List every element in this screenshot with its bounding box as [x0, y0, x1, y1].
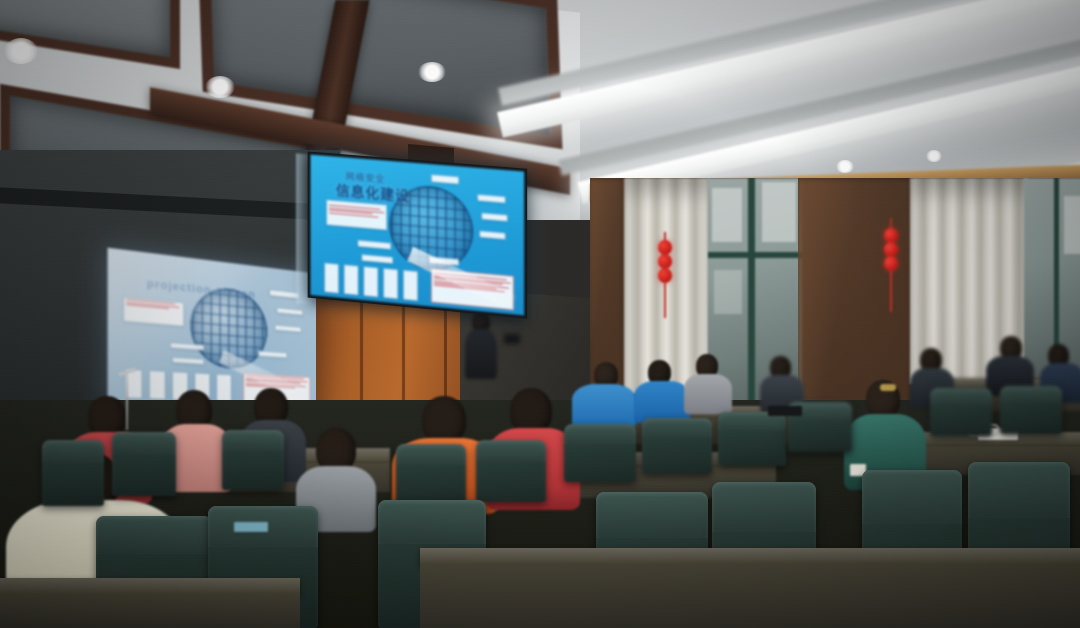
red-lantern-icon	[658, 254, 672, 269]
slide-tag-right-3	[479, 230, 505, 239]
microphone-stand	[126, 374, 128, 430]
red-lantern-icon	[658, 268, 672, 283]
projection-screen: projection-screen	[108, 248, 324, 412]
exterior-building-block	[762, 182, 796, 242]
lecture-hall-photo: projection-screen	[0, 0, 1080, 628]
downlight-icon-6	[926, 150, 942, 162]
slide-card-4	[383, 268, 398, 299]
lantern-tassel	[890, 270, 892, 312]
chair[interactable]	[42, 440, 104, 506]
slide-tag-right-2	[481, 213, 507, 222]
slide-card-1	[324, 263, 339, 294]
wall-mounted-tv[interactable]: 网络安全 信息化建设	[308, 151, 528, 318]
downlight-icon-3	[418, 62, 446, 82]
slide-tag-right-1	[477, 194, 505, 203]
downlight-icon-5	[836, 160, 854, 173]
slide-card-2	[344, 264, 359, 295]
hair-clip-icon	[880, 384, 896, 391]
slide-card-5	[403, 270, 418, 301]
red-lantern-string-right	[884, 218, 898, 314]
attendee-body	[684, 374, 732, 414]
red-lantern-icon	[884, 242, 898, 257]
slide-tag-top	[431, 174, 459, 184]
attendee-body	[572, 384, 636, 428]
tv-screen[interactable]: 网络安全 信息化建设	[311, 155, 525, 316]
exterior-building-block	[1064, 196, 1080, 254]
attendee-dark-top-back	[760, 356, 804, 408]
red-lantern-icon	[884, 228, 898, 243]
downlight-icon-1	[4, 38, 38, 64]
tv-slide: 网络安全 信息化建设	[311, 155, 525, 316]
exterior-building-block	[714, 270, 742, 314]
lantern-tassel	[664, 282, 666, 318]
chair[interactable]	[112, 432, 176, 496]
desk-front-foreground-left	[0, 594, 300, 628]
desk-front-foreground	[420, 564, 1080, 628]
chair[interactable]	[1000, 386, 1062, 434]
presenter	[464, 312, 498, 378]
window-mullion-vertical	[748, 178, 755, 404]
chair[interactable]	[564, 424, 636, 482]
slide-tag-left-2	[361, 254, 393, 264]
exterior-building-block	[712, 188, 742, 242]
slide-tag-left-1	[358, 240, 392, 250]
chair[interactable]	[642, 418, 712, 474]
presenter-laptop	[504, 334, 520, 344]
presenter-body	[465, 329, 497, 379]
attendee-dark-coat-a	[986, 336, 1034, 392]
chair[interactable]	[222, 430, 284, 490]
attendee-head	[422, 396, 466, 444]
paper-on-desk-foreground	[234, 522, 268, 532]
slide-card-3	[363, 266, 378, 297]
downlight-icon-2	[205, 76, 235, 98]
red-lantern-string-left	[658, 232, 672, 322]
slide-callout-box	[326, 199, 387, 230]
chair[interactable]	[718, 412, 786, 466]
attendee-body	[634, 381, 690, 423]
chair[interactable]	[930, 388, 992, 436]
chair[interactable]	[476, 440, 546, 502]
equipment-label	[768, 406, 802, 416]
attendee-blue-jacket-a	[572, 362, 636, 424]
projection-glare	[108, 248, 324, 412]
window-mullion-horizontal	[708, 252, 802, 258]
attendee-grey-top	[684, 354, 732, 410]
chair[interactable]	[396, 444, 466, 506]
red-lantern-icon	[658, 240, 672, 255]
red-lantern-icon	[884, 256, 898, 271]
attendee-blue-jacket-b	[634, 360, 690, 420]
